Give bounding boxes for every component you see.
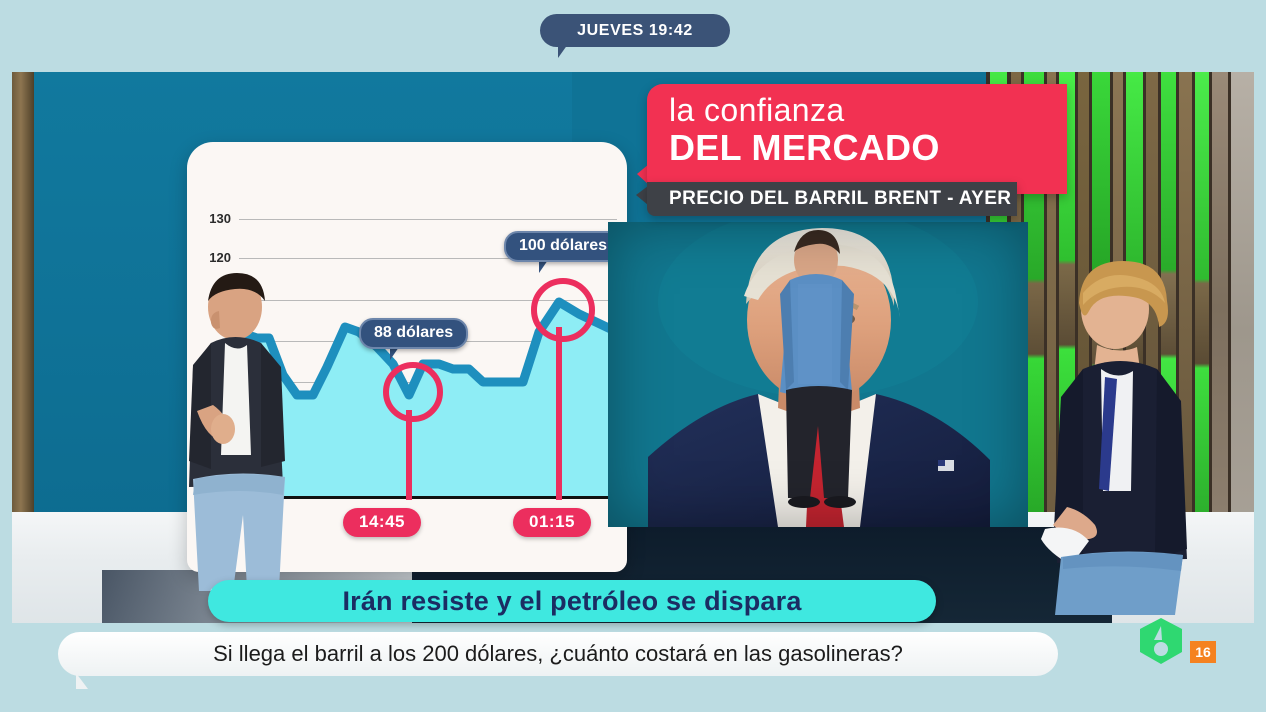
banner-line-1: la confianza [669,92,1067,128]
age-rating-badge: 16 [1190,641,1216,663]
marker-ring-88-dolares [383,362,443,422]
studio-wall-screen [608,222,1028,527]
xtick-pill-1445: 14:45 [343,508,421,537]
xtick-pill-0115: 01:15 [513,508,591,537]
clock-badge: JUEVES 19:42 [540,14,730,47]
banner-subtitle-bar: PRECIO DEL BARRIL BRENT - AYER [647,182,1017,216]
broadcast-screen: JUEVES 19:42 [0,0,1266,712]
presenter-right [987,257,1207,617]
presenter-in-front-of-screen [608,222,1028,527]
banner-line-2: DEL MERCADO [669,128,1067,168]
subtitle-caption: Si llega el barril a los 200 dólares, ¿c… [58,632,1058,676]
red-title-banner: la confianza DEL MERCADO [647,84,1067,194]
annotation-100-dolares: 100 dólares [504,231,622,262]
marker-ring-100-dolares [531,278,595,342]
studio-wood-column [12,72,34,527]
annotation-88-dolares: 88 dólares [359,318,468,349]
lasexta-hexagon-6-logo [1140,618,1182,664]
presenter-left [167,267,327,617]
marker-stem-1445 [406,410,412,500]
marker-stem-0115 [556,327,562,500]
news-headline: Irán resiste y el petróleo se dispara [208,580,936,622]
video-frame: 130 120 88 dólares 100 dólares [12,72,1254,623]
